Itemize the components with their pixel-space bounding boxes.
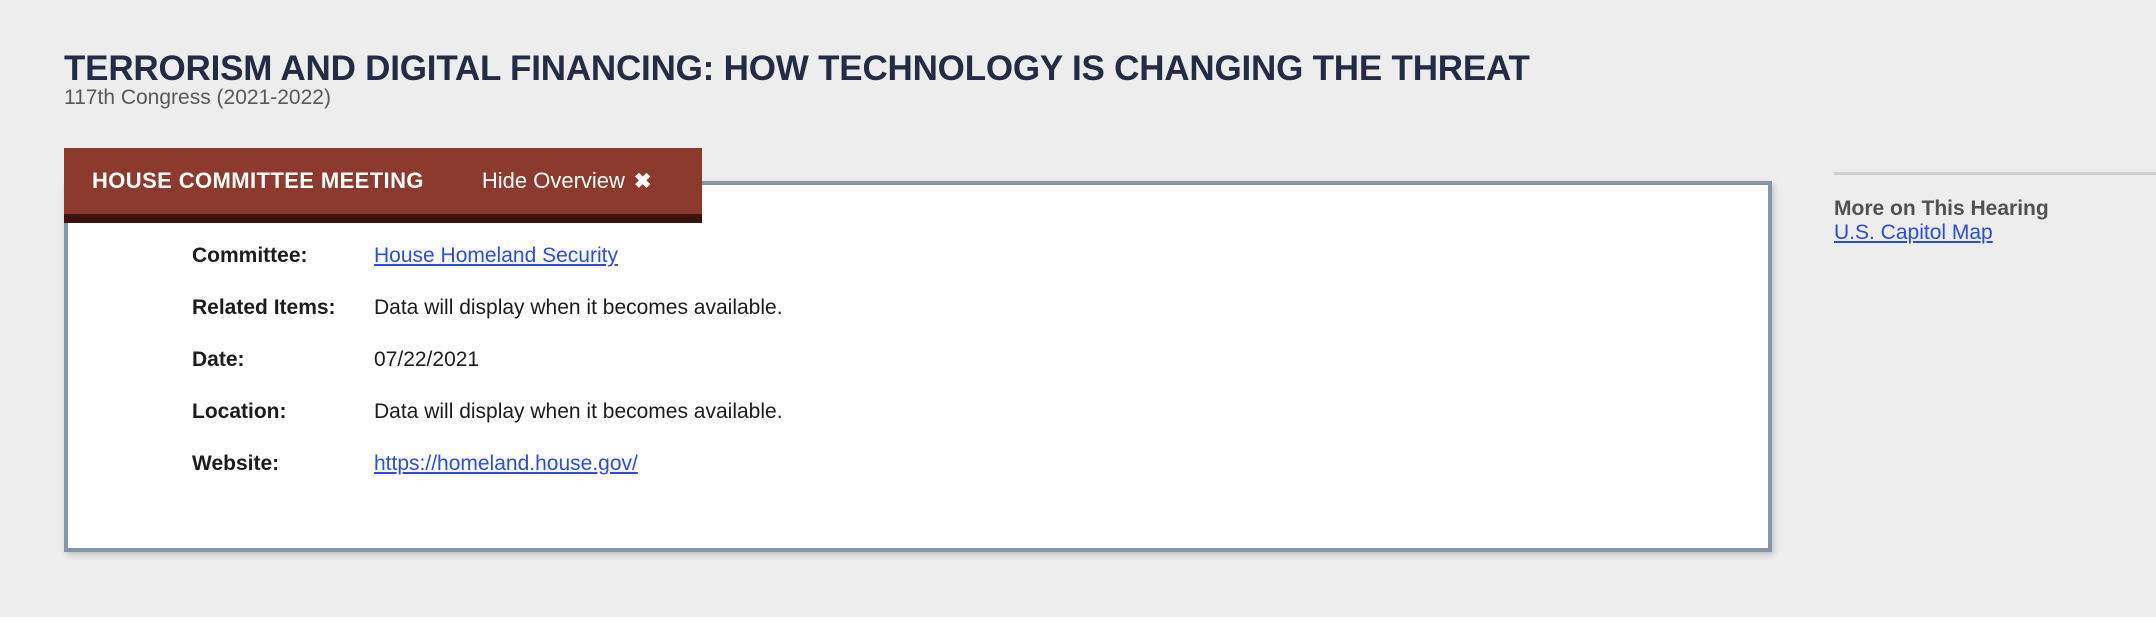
- detail-value-location: Data will display when it becomes availa…: [374, 400, 783, 424]
- committee-link[interactable]: House Homeland Security: [374, 244, 618, 268]
- overview-tab-header: HOUSE COMMITTEE MEETING Hide Overview ✖: [64, 148, 702, 214]
- table-row: Related Items: Data will display when it…: [64, 296, 1772, 348]
- right-rail: More on This Hearing U.S. Capitol Map: [1834, 172, 2156, 245]
- detail-label-related-items: Related Items:: [192, 296, 374, 320]
- detail-label-committee: Committee:: [192, 244, 374, 268]
- detail-value-date: 07/22/2021: [374, 348, 479, 372]
- page-title: TERRORISM AND DIGITAL FINANCING: HOW TEC…: [64, 49, 1530, 89]
- page-footer: [0, 617, 2156, 642]
- table-row: Date: 07/22/2021: [64, 348, 1772, 400]
- congress-subtitle: 117th Congress (2021-2022): [64, 86, 331, 110]
- us-capitol-map-link[interactable]: U.S. Capitol Map: [1834, 221, 1993, 244]
- rail-divider: [1834, 172, 2156, 175]
- more-on-this-hearing-heading: More on This Hearing: [1834, 197, 2156, 221]
- detail-value-related-items: Data will display when it becomes availa…: [374, 296, 783, 320]
- overview-tab-title: HOUSE COMMITTEE MEETING: [92, 168, 424, 194]
- table-row: Website: https://homeland.house.gov/: [64, 452, 1772, 504]
- table-row: Location: Data will display when it beco…: [64, 400, 1772, 452]
- table-row: Committee: House Homeland Security: [64, 244, 1772, 296]
- hide-overview-label: Hide Overview: [482, 168, 625, 194]
- detail-label-location: Location:: [192, 400, 374, 424]
- committee-meeting-overview-panel: HOUSE COMMITTEE MEETING Hide Overview ✖ …: [64, 148, 1772, 552]
- overview-detail-list: Committee: House Homeland Security Relat…: [64, 181, 1772, 504]
- website-link[interactable]: https://homeland.house.gov/: [374, 452, 638, 476]
- close-icon: ✖: [634, 171, 652, 192]
- hide-overview-button[interactable]: Hide Overview ✖: [482, 168, 652, 194]
- detail-label-website: Website:: [192, 452, 374, 476]
- detail-label-date: Date:: [192, 348, 374, 372]
- hearing-page: TERRORISM AND DIGITAL FINANCING: HOW TEC…: [0, 0, 2156, 617]
